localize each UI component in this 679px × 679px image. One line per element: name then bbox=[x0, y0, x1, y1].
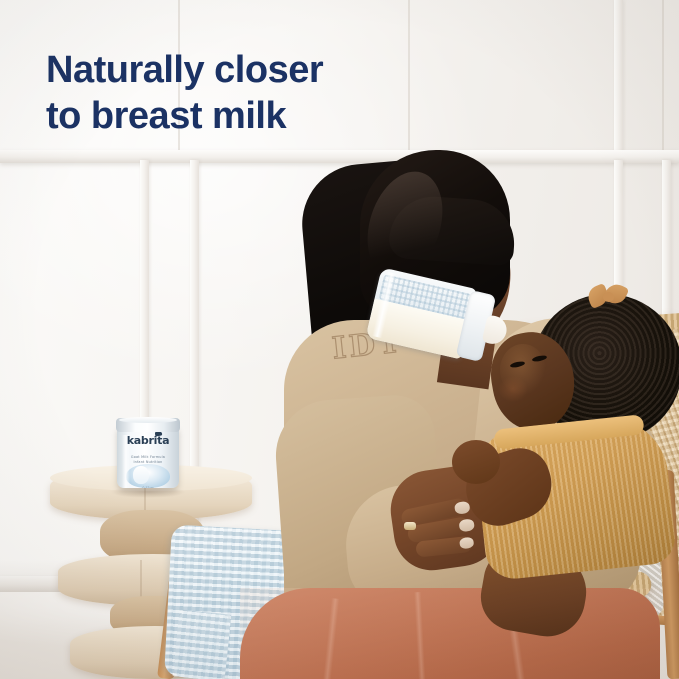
page-title: Naturally closer to breast milk bbox=[46, 47, 323, 139]
tin-lid-top bbox=[119, 417, 177, 423]
wall-seam bbox=[408, 0, 410, 150]
mother-skirt bbox=[240, 588, 660, 679]
tin-goat-illustration bbox=[133, 466, 149, 484]
skirt-shading bbox=[240, 588, 660, 679]
baby-hair-bow bbox=[588, 284, 628, 310]
wall-batten bbox=[614, 0, 623, 152]
baby-cheek bbox=[498, 376, 528, 402]
blanket-knit-texture bbox=[173, 609, 232, 679]
blanket-hanging-fold bbox=[173, 609, 232, 679]
wall-seam bbox=[662, 0, 664, 150]
bow-knot bbox=[603, 292, 614, 302]
kabrita-formula-tin: Goat Milk Formula Infant Nutrition 0-12 … bbox=[117, 418, 179, 494]
lifestyle-ad-image: Goat Milk Formula Infant Nutrition 0-12 … bbox=[0, 0, 679, 679]
baby-hand bbox=[452, 440, 500, 484]
tin-brand-name: kabrita bbox=[117, 434, 179, 447]
mother-ring bbox=[404, 522, 416, 530]
